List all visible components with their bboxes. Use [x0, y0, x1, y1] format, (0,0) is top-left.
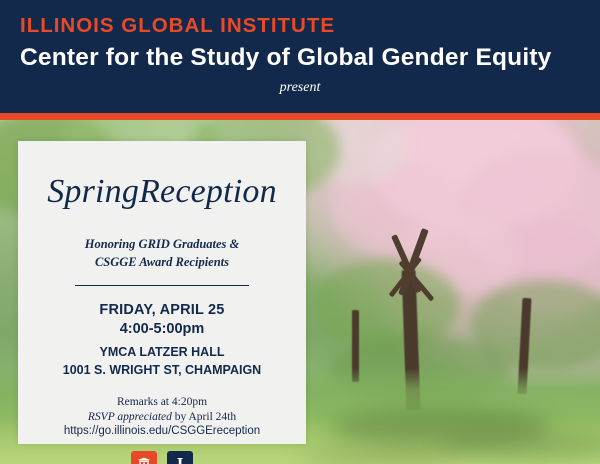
event-date: FRIDAY, APRIL 25: [36, 302, 288, 318]
orange-divider-rule: [0, 113, 600, 120]
honoring-line-2: CSGGE Award Recipients: [36, 253, 288, 271]
venue-address: 1001 S. WRIGHT ST, CHAMPAIGN: [36, 361, 288, 379]
venue-name: YMCA LATZER HALL: [36, 343, 288, 361]
rsvp-note: RSVP appreciated by April 24th: [36, 411, 288, 423]
present-label: present: [0, 80, 600, 96]
card-divider: [75, 285, 249, 286]
poster-header: ILLINOIS GLOBAL INSTITUTE Center for the…: [0, 0, 600, 113]
rsvp-link[interactable]: https://go.illinois.edu/CSGGEreception: [36, 425, 288, 437]
logo-row: I: [36, 451, 288, 464]
institute-name: ILLINOIS GLOBAL INSTITUTE: [0, 14, 600, 38]
event-title-word1: Spring: [47, 173, 139, 210]
ground-shadow: [300, 445, 460, 464]
event-time: 4:00-5:00pm: [36, 321, 288, 337]
event-poster: ILLINOIS GLOBAL INSTITUTE Center for the…: [0, 0, 600, 464]
rsvp-emphasis: RSVP appreciated: [88, 411, 172, 423]
rsvp-deadline: by April 24th: [172, 411, 236, 423]
event-title-word2: Reception: [139, 173, 277, 210]
center-name: Center for the Study of Global Gender Eq…: [0, 44, 600, 72]
invitation-card: SpringReception Honoring GRID Graduates …: [18, 141, 306, 444]
block-i-glyph: I: [177, 455, 184, 464]
globe-icon: [136, 457, 152, 464]
honoring-text: Honoring GRID Graduates & CSGGE Award Re…: [36, 235, 288, 271]
event-venue: YMCA LATZER HALL 1001 S. WRIGHT ST, CHAM…: [36, 343, 288, 379]
honoring-line-1: Honoring GRID Graduates &: [36, 235, 288, 253]
event-title: SpringReception: [36, 173, 288, 211]
remarks-note: Remarks at 4:20pm: [36, 396, 288, 408]
illinois-global-institute-logo: [131, 451, 157, 464]
university-of-illinois-block-i-logo: I: [167, 451, 193, 464]
